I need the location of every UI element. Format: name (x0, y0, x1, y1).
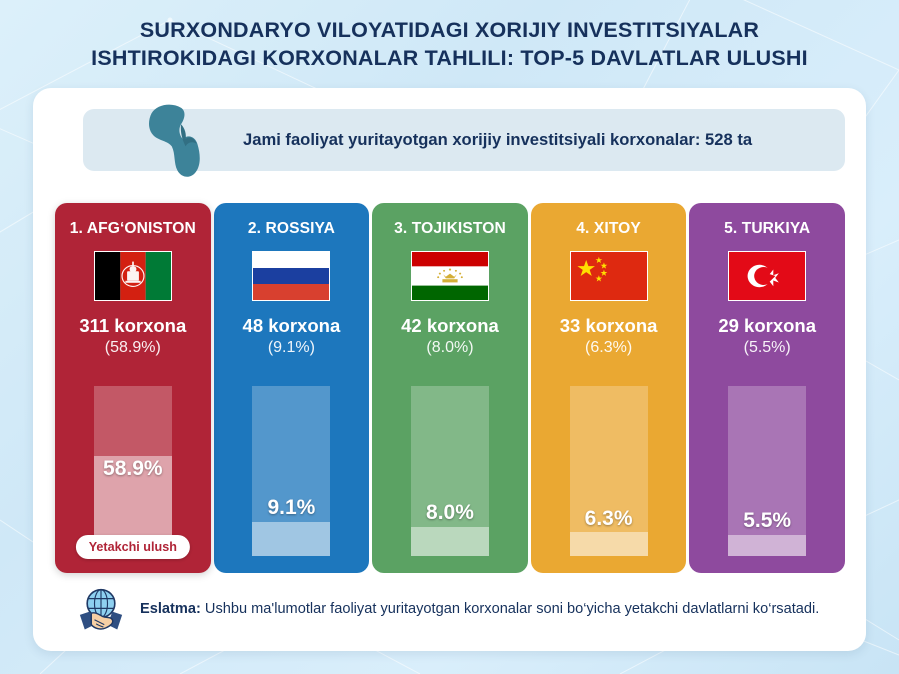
leader-badge: Yetakchi ulush (76, 535, 190, 559)
country-column-china[interactable]: 4. XITOY 33 korxona (6.3%) (531, 203, 687, 573)
russia-flag-icon (252, 251, 330, 301)
country-percent-small: (58.9%) (105, 339, 161, 357)
country-count: 33 korxona (560, 315, 658, 337)
country-name: 3. TOJIKISTON (394, 220, 506, 238)
country-column-afghanistan[interactable]: 1. AFG‘ONISTON (55, 203, 211, 573)
bar-track: 9.1% (252, 386, 330, 556)
globe-handshake-icon (75, 584, 127, 636)
summary-text: Jami faoliyat yuritayotgan xorijiy inves… (243, 130, 752, 150)
country-percent-small: (5.5%) (744, 339, 791, 357)
bar-track: 6.3% (570, 386, 648, 556)
country-percent-small: (6.3%) (585, 339, 632, 357)
country-count: 48 korxona (243, 315, 341, 337)
bar-fill (252, 522, 330, 556)
country-count: 311 korxona (79, 315, 186, 337)
page-title: SURXONDARYO VILOYATIDAGI XORIJIY INVESTI… (0, 0, 899, 73)
note-bar: Eslatma: Ushbu ma'lumotlar faoliyat yuri… (55, 579, 845, 641)
title-line-2: ISHTIROKIDAGI KORXONALAR TAHLILI: TOP-5 … (30, 44, 869, 72)
bar-fill (728, 535, 806, 556)
infographic-root: SURXONDARYO VILOYATIDAGI XORIJIY INVESTI… (0, 0, 899, 674)
country-columns: 1. AFG‘ONISTON (55, 203, 845, 573)
china-flag-icon (570, 251, 648, 301)
country-name: 4. XITOY (576, 220, 641, 238)
country-column-turkey[interactable]: 5. TURKIYA 29 korxona (5.5%) 5.5% (689, 203, 845, 573)
bar-track: 8.0% (411, 386, 489, 556)
bar-value-label: 8.0% (426, 501, 474, 525)
afghanistan-flag-icon (94, 251, 172, 301)
country-column-russia[interactable]: 2. ROSSIYA 48 korxona (9.1%) 9.1% (214, 203, 370, 573)
country-percent-small: (8.0%) (426, 339, 473, 357)
bar-value-label: 6.3% (585, 507, 633, 531)
main-card: Jami faoliyat yuritayotgan xorijiy inves… (33, 88, 866, 651)
bar-value-label: 58.9% (103, 457, 163, 481)
summary-banner: Jami faoliyat yuritayotgan xorijiy inves… (83, 109, 845, 171)
tajikistan-flag-icon (411, 251, 489, 301)
country-name: 1. AFG‘ONISTON (70, 220, 196, 238)
country-percent-small: (9.1%) (268, 339, 315, 357)
country-count: 42 korxona (401, 315, 499, 337)
note-text: Eslatma: Ushbu ma'lumotlar faoliyat yuri… (140, 599, 819, 620)
country-column-tajikistan[interactable]: 3. TOJIKISTON (372, 203, 528, 573)
surxondaryo-region-map-icon (135, 93, 227, 185)
country-count: 29 korxona (718, 315, 816, 337)
bar-fill (411, 527, 489, 556)
note-body: Ushbu ma'lumotlar faoliyat yuritayotgan … (201, 601, 819, 617)
bar-track: 58.9% (94, 386, 172, 556)
bar-fill (570, 532, 648, 556)
turkey-flag-icon (728, 251, 806, 301)
bar-value-label: 5.5% (743, 509, 791, 533)
bar-value-label: 9.1% (267, 496, 315, 520)
country-name: 2. ROSSIYA (248, 220, 335, 238)
bar-track: 5.5% (728, 386, 806, 556)
title-line-1: SURXONDARYO VILOYATIDAGI XORIJIY INVESTI… (30, 16, 869, 44)
country-name: 5. TURKIYA (724, 220, 810, 238)
note-label: Eslatma: (140, 601, 201, 617)
